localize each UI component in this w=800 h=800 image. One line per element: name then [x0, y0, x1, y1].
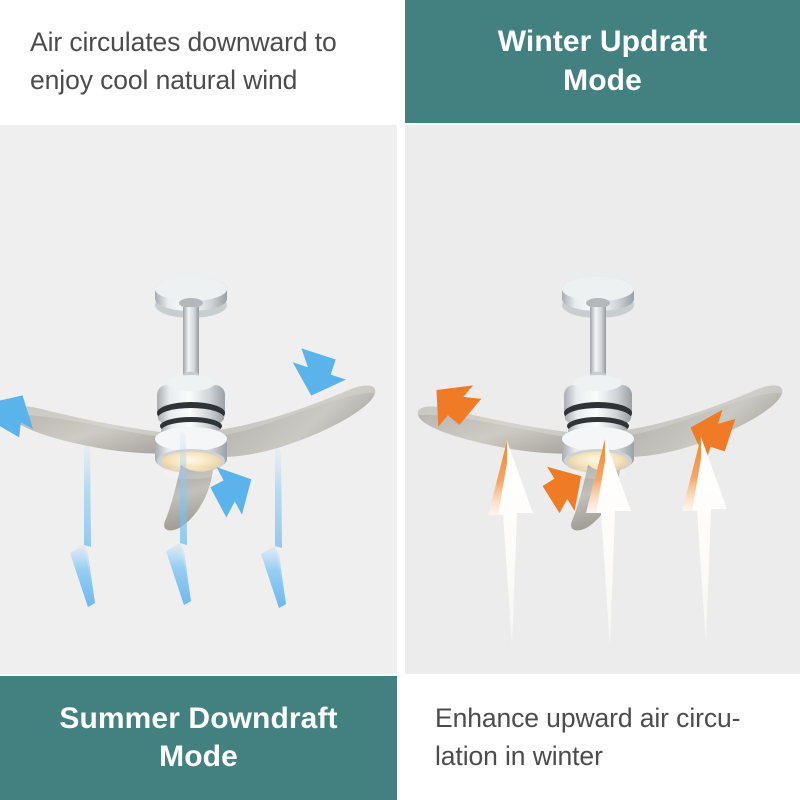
airflow-down-group	[60, 425, 397, 674]
airflow-down-2	[166, 543, 191, 605]
airflow-up-1	[488, 441, 533, 645]
winter-updraft-illustration	[405, 125, 800, 674]
summer-caption-text: Air circulates downward to enjoy cool na…	[30, 24, 337, 99]
airflow-down-3	[261, 546, 286, 608]
winter-mode-title: Winter Updraft Mode	[498, 23, 707, 100]
gutter-vertical-top	[397, 0, 405, 123]
summer-caption-panel: Air circulates downward to enjoy cool na…	[0, 0, 397, 123]
summer-mode-title: Summer Downdraft Mode	[59, 700, 337, 777]
gutter-vertical-bottom	[397, 676, 405, 800]
summer-mode-header: Summer Downdraft Mode	[0, 676, 397, 800]
airflow-down-1	[70, 545, 95, 607]
airflow-up-3	[682, 437, 727, 643]
airflow-up-group	[465, 415, 800, 674]
airflow-down-1-tail	[84, 443, 91, 547]
gutter-vertical-middle	[397, 125, 405, 674]
airflow-up-2	[586, 439, 631, 647]
winter-caption-panel: Enhance upward air circu- lation in wint…	[405, 676, 800, 800]
winter-caption-text: Enhance upward air circu- lation in wint…	[435, 700, 740, 775]
summer-downdraft-illustration	[0, 125, 397, 674]
winter-mode-header: Winter Updraft Mode	[405, 0, 800, 123]
product-feature-board: Air circulates downward to enjoy cool na…	[0, 0, 800, 800]
